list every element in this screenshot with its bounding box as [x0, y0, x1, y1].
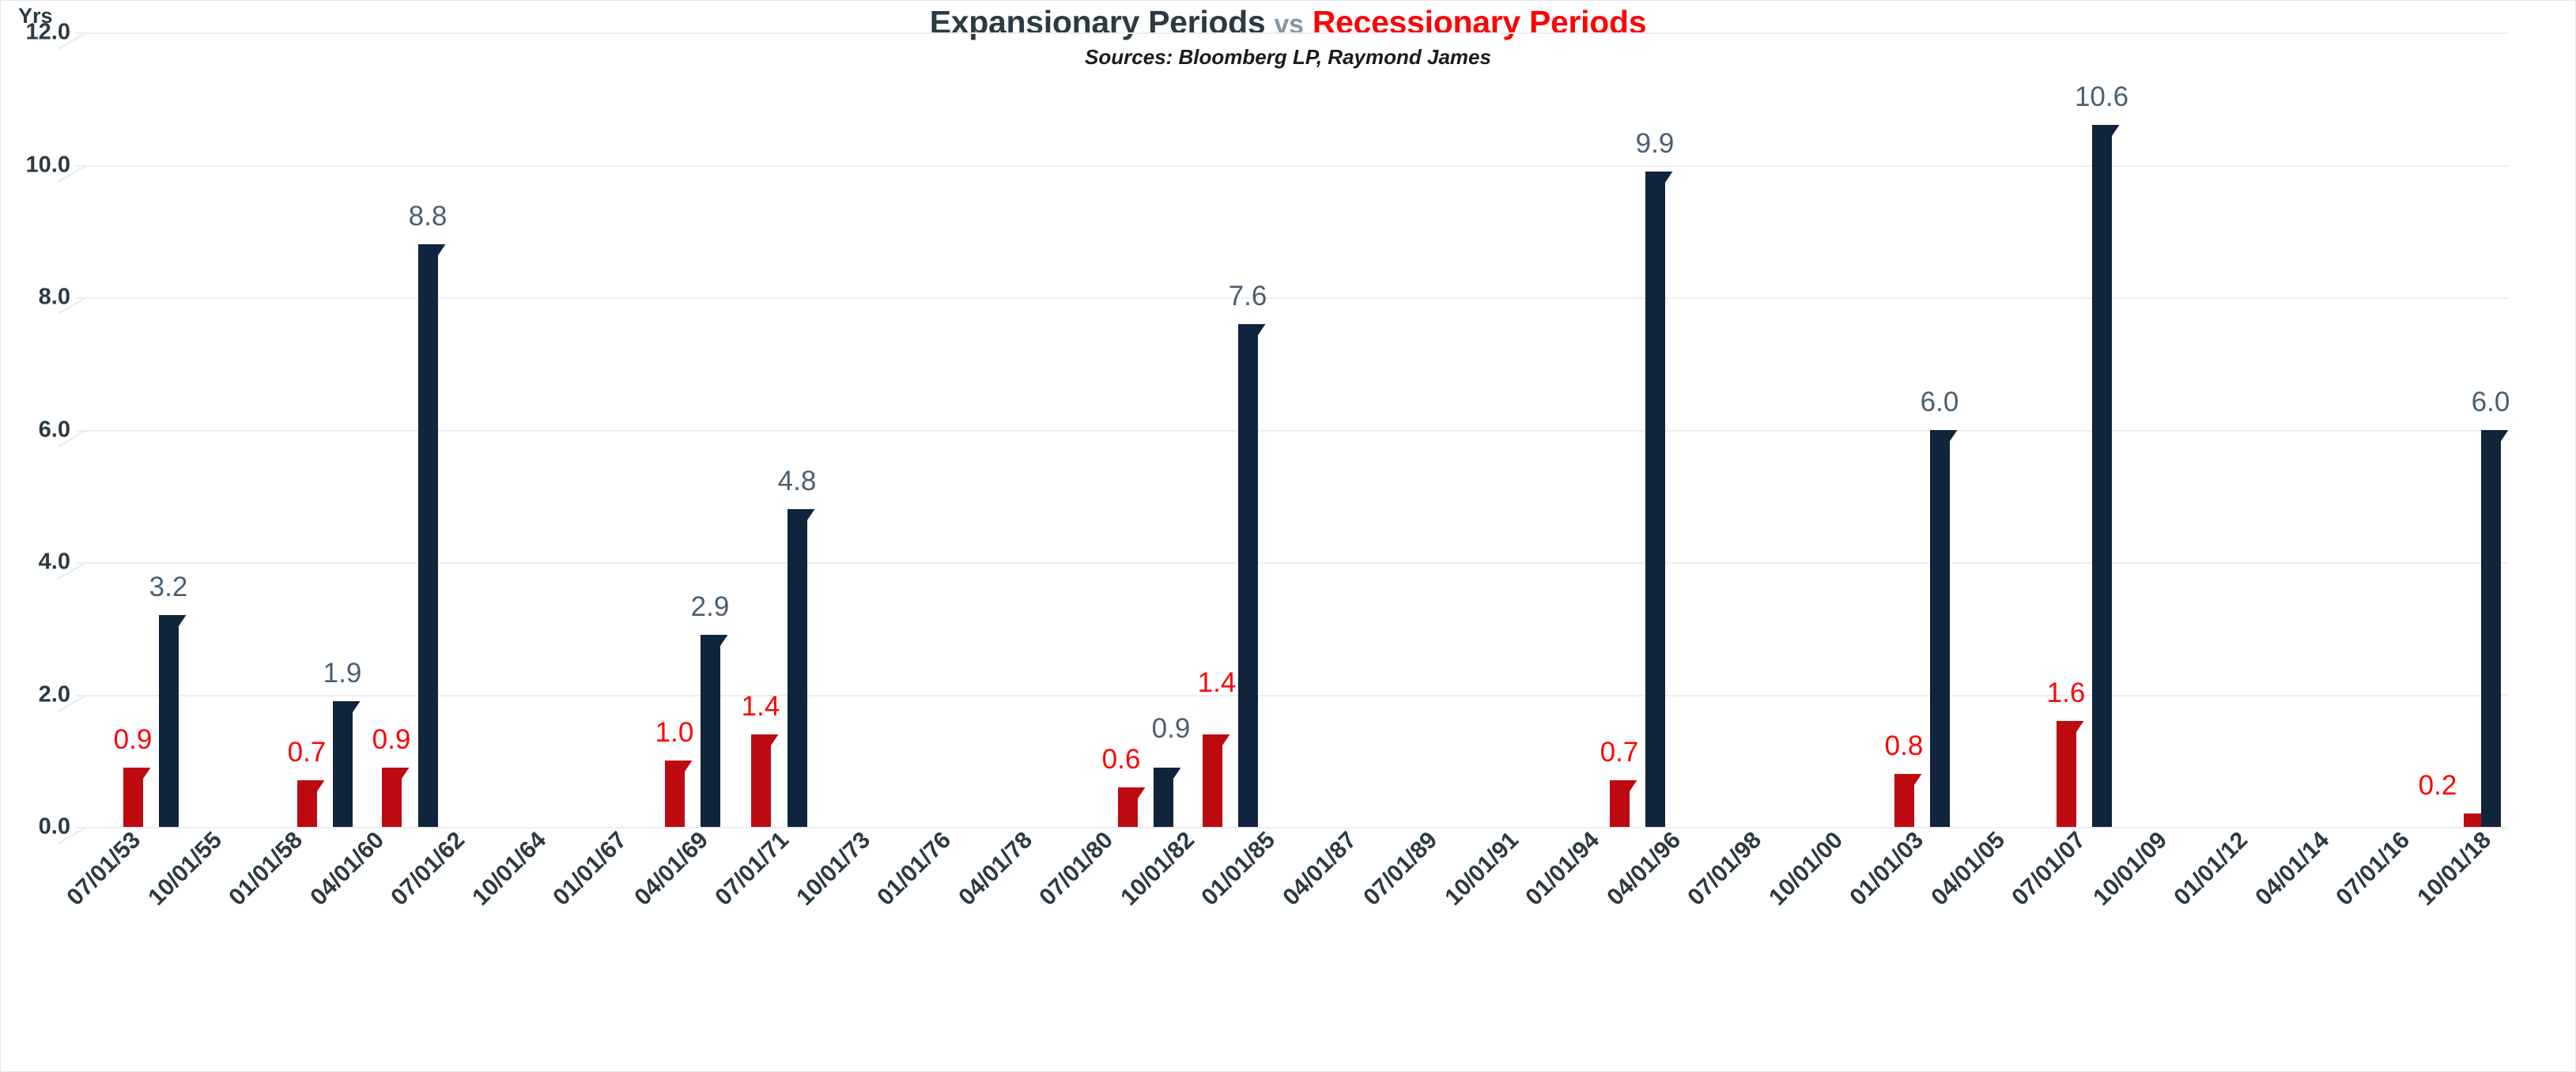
gridline — [76, 562, 2507, 564]
bar-face — [2057, 721, 2076, 827]
bar-value-label: 3.2 — [149, 572, 188, 603]
x-axis-tick-text: 10/01/09 — [2088, 827, 2173, 912]
x-axis-tick-text: 07/01/16 — [2332, 827, 2416, 912]
x-axis-tick-text: 01/01/85 — [1197, 827, 1282, 912]
x-axis-tick-text: 04/01/14 — [2250, 827, 2335, 912]
bar-value-label: 0.2 — [2419, 770, 2457, 802]
bar-value-label: 8.8 — [409, 201, 448, 232]
x-axis-tick-text: 10/01/91 — [1440, 827, 1524, 912]
expansion-bar[interactable] — [418, 244, 438, 827]
bar-value-label: 6.0 — [1921, 387, 1959, 418]
bar-face — [701, 635, 720, 827]
x-axis-tick-text: 07/01/80 — [1035, 827, 1120, 912]
bar-value-label: 0.9 — [1152, 713, 1191, 745]
expansion-bar[interactable] — [788, 509, 807, 827]
x-axis-tick-text: 04/01/69 — [629, 827, 714, 912]
x-axis-tick-text: 07/01/62 — [387, 827, 471, 912]
expansion-bar[interactable] — [2481, 430, 2501, 828]
recession-bar[interactable] — [1610, 780, 1630, 827]
bar-face — [2092, 125, 2112, 827]
x-axis-tick-text: 01/01/58 — [225, 827, 309, 912]
x-axis-tick-text: 07/01/98 — [1683, 827, 1768, 912]
bar-value-label: 0.7 — [1600, 737, 1639, 768]
bar-value-label: 1.6 — [2047, 678, 2086, 709]
recession-bar[interactable] — [382, 768, 402, 827]
bar-value-label: 1.4 — [742, 691, 780, 723]
x-axis-tick-text: 10/01/55 — [143, 827, 228, 912]
gridline — [76, 165, 2507, 167]
x-axis-tick-text: 01/01/03 — [1845, 827, 1930, 912]
bar-face — [1203, 734, 1222, 827]
gridline — [76, 297, 2507, 299]
bar-value-label: 1.0 — [655, 717, 694, 749]
gridline — [76, 695, 2507, 696]
gridline — [76, 32, 2507, 34]
x-axis-tick-text: 01/01/94 — [1521, 827, 1606, 912]
x-axis-tick-text: 04/01/05 — [1926, 827, 2011, 912]
expansion-bar[interactable] — [333, 701, 353, 827]
bar-value-label: 0.8 — [1885, 730, 1924, 762]
recession-bar[interactable] — [1894, 774, 1914, 827]
plot-area: 0.93.20.71.90.98.81.02.91.44.80.60.91.47… — [76, 32, 2507, 827]
bar-value-label: 0.6 — [1102, 744, 1141, 776]
bar-value-label: 0.7 — [288, 737, 327, 768]
bar-face — [2481, 430, 2501, 828]
chart-container: Yrs Expansionary Periods vs Recessionary… — [0, 0, 2576, 1072]
x-axis-tick-text: 07/01/07 — [2008, 827, 2092, 912]
expansion-bar[interactable] — [1238, 324, 1258, 828]
bar-value-label: 0.9 — [372, 724, 411, 756]
bar-value-label: 7.6 — [1229, 281, 1267, 312]
bar-face — [788, 509, 807, 827]
bar-face — [1238, 324, 1258, 828]
recession-bar[interactable] — [123, 768, 143, 827]
expansion-bar[interactable] — [1645, 172, 1665, 827]
x-axis-tick-text: 01/01/12 — [2170, 827, 2254, 912]
bar-face — [333, 701, 353, 827]
recession-bar[interactable] — [2057, 721, 2076, 827]
bar-value-label: 0.9 — [114, 724, 153, 756]
recession-bar[interactable] — [751, 734, 771, 827]
recession-bar[interactable] — [1118, 787, 1138, 827]
bar-face — [159, 615, 179, 827]
x-axis-tick-labels: 07/01/5310/01/5501/01/5804/01/6007/01/62… — [76, 827, 2507, 1064]
x-axis-tick-text: 04/01/78 — [954, 827, 1038, 912]
x-axis-tick-text: 01/01/67 — [549, 827, 633, 912]
bar-value-label: 4.8 — [778, 466, 817, 497]
x-axis-tick-text: 07/01/89 — [1359, 827, 1444, 912]
x-axis-tick-text: 10/01/18 — [2412, 827, 2497, 912]
expansion-bar[interactable] — [1930, 430, 1950, 828]
bar-value-label: 1.4 — [1198, 667, 1237, 699]
x-axis-tick-text: 04/01/60 — [305, 827, 390, 912]
x-axis-tick-text: 10/01/73 — [791, 827, 876, 912]
x-axis-tick-text: 01/01/76 — [873, 827, 958, 912]
bar-face — [1930, 430, 1950, 828]
y-axis-tick-label: 4.0 — [0, 549, 70, 576]
bar-value-label: 1.9 — [323, 658, 362, 689]
expansion-bar[interactable] — [701, 635, 720, 827]
y-axis-tick-label: 6.0 — [0, 417, 70, 443]
x-axis-tick-text: 07/01/71 — [711, 827, 795, 912]
bar-value-label: 2.9 — [691, 591, 730, 623]
bar-value-label: 10.6 — [2075, 81, 2128, 113]
y-axis-tick-label: 0.0 — [0, 814, 70, 840]
expansion-bar[interactable] — [159, 615, 179, 827]
recession-bar[interactable] — [665, 761, 685, 827]
recession-bar[interactable] — [297, 780, 317, 827]
y-axis-tick-label: 2.0 — [0, 681, 70, 708]
expansion-bar[interactable] — [1154, 768, 1173, 827]
x-axis-tick-text: 10/01/82 — [1116, 827, 1200, 912]
gridline — [76, 430, 2507, 432]
x-axis-tick-text: 04/01/96 — [1602, 827, 1686, 912]
bar-face — [418, 244, 438, 827]
y-axis-tick-label: 12.0 — [0, 20, 70, 46]
bar-value-label: 6.0 — [2472, 387, 2510, 418]
y-axis-tick-label: 10.0 — [0, 152, 70, 178]
bar-face — [1645, 172, 1665, 827]
x-axis-tick-text: 07/01/53 — [62, 827, 147, 912]
bar-face — [751, 734, 771, 827]
expansion-bar[interactable] — [2092, 125, 2112, 827]
bar-value-label: 9.9 — [1636, 128, 1675, 160]
x-axis-tick-text: 10/01/00 — [1764, 827, 1849, 912]
y-axis-tick-labels: 0.02.04.06.08.010.012.0 — [1, 32, 70, 827]
x-axis-tick-text: 04/01/87 — [1278, 827, 1362, 912]
x-axis-tick-text: 10/01/64 — [467, 827, 552, 912]
recession-bar[interactable] — [1203, 734, 1222, 827]
y-axis-tick-label: 8.0 — [0, 285, 70, 311]
